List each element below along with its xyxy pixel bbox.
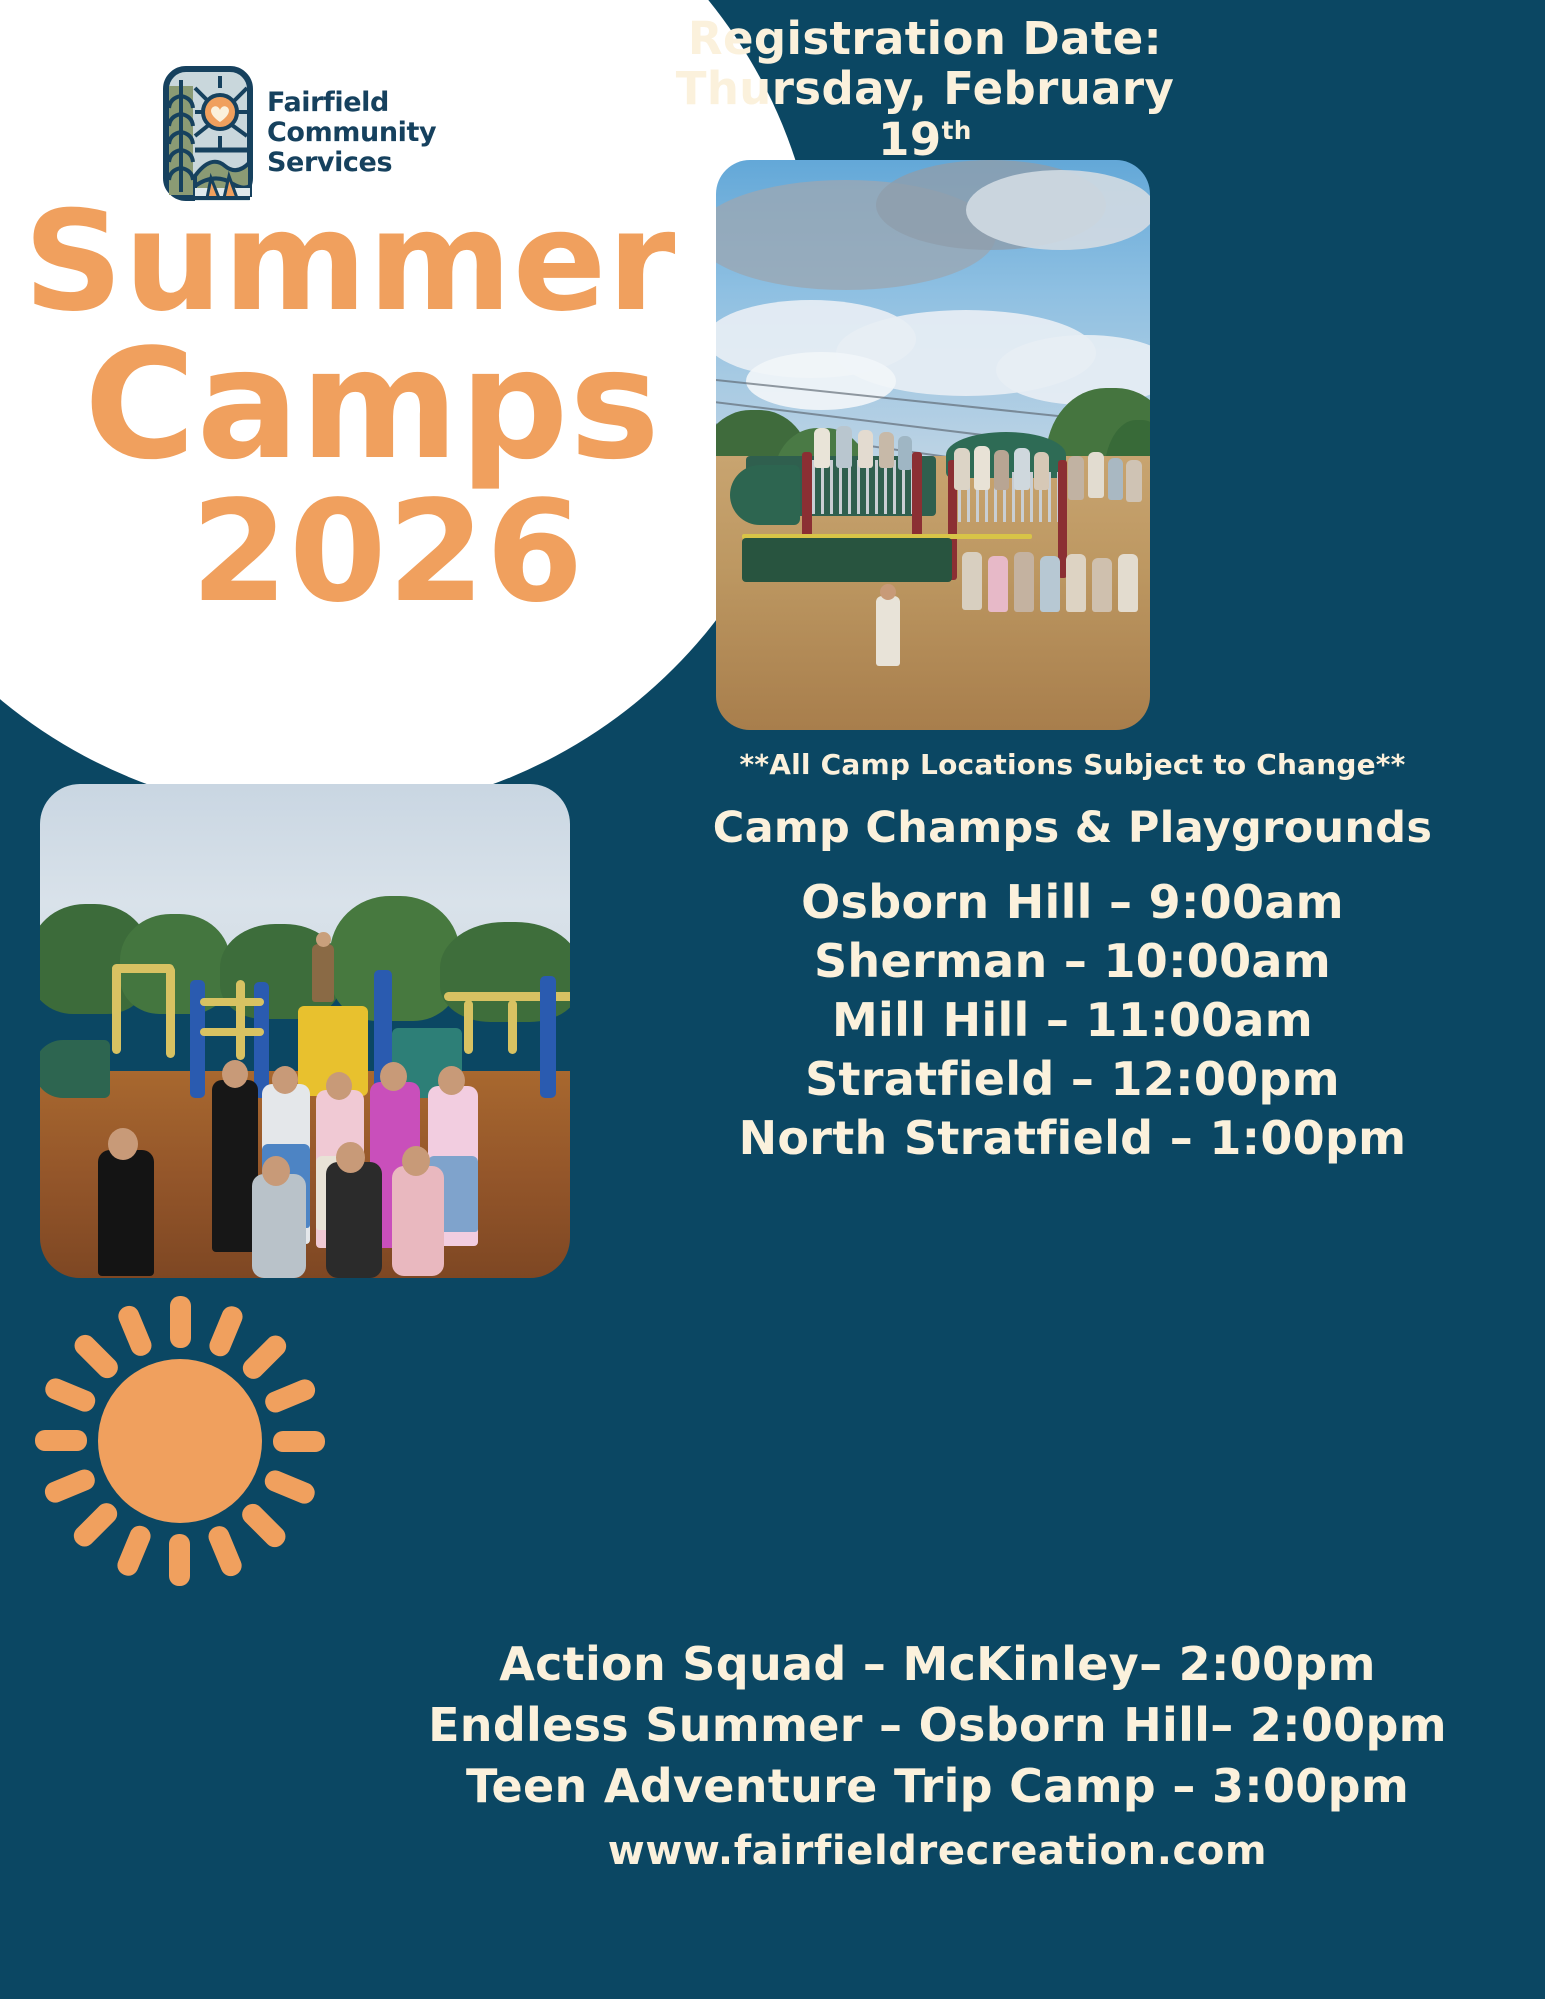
title-line-summer: Summer [10,196,690,327]
title-line-year: 2026 [85,482,690,625]
registration-date: Thursday, February 19th [640,64,1210,165]
brand-name-line2: Community [267,118,436,148]
title-line-camps: Camps [55,327,690,482]
schedule-item: Mill Hill – 11:00am [600,991,1545,1050]
section-heading-camp-champs: Camp Champs & Playgrounds [600,803,1545,853]
registration-date-suffix: th [942,116,972,145]
playground-group-photo [716,160,1150,730]
schedule-item: Stratfield – 12:00pm [600,1050,1545,1109]
brand-name: Fairfield Community Services [267,88,436,179]
schedule-item: Teen Adventure Trip Camp – 3:00pm [330,1756,1545,1817]
flyer-poster: Fairfield Community Services Summer Camp… [0,0,1545,1999]
camp-info-block-wide: Action Squad – McKinley– 2:00pm Endless … [330,1634,1545,1874]
sun-icon [35,1296,325,1586]
schedule-item: Action Squad – McKinley– 2:00pm [330,1634,1545,1695]
locations-disclaimer: **All Camp Locations Subject to Change** [600,748,1545,781]
schedule-item: Sherman – 10:00am [600,932,1545,991]
campers-in-costumes-photo [40,784,570,1278]
schedule-item: Osborn Hill – 9:00am [600,873,1545,932]
camp-info-block: **All Camp Locations Subject to Change**… [600,748,1545,1167]
schedule-item: Endless Summer – Osborn Hill– 2:00pm [330,1695,1545,1756]
brand-name-line1: Fairfield [267,88,436,118]
registration-label: Registration Date: [640,14,1210,64]
website-url[interactable]: www.fairfieldrecreation.com [330,1828,1545,1874]
schedule-item: North Stratfield – 1:00pm [600,1109,1545,1168]
brand-name-line3: Services [267,148,436,178]
registration-date-block: Registration Date: Thursday, February 19… [640,14,1210,165]
page-title: Summer Camps 2026 [0,196,690,625]
registration-date-text: Thursday, February 19 [676,62,1175,165]
